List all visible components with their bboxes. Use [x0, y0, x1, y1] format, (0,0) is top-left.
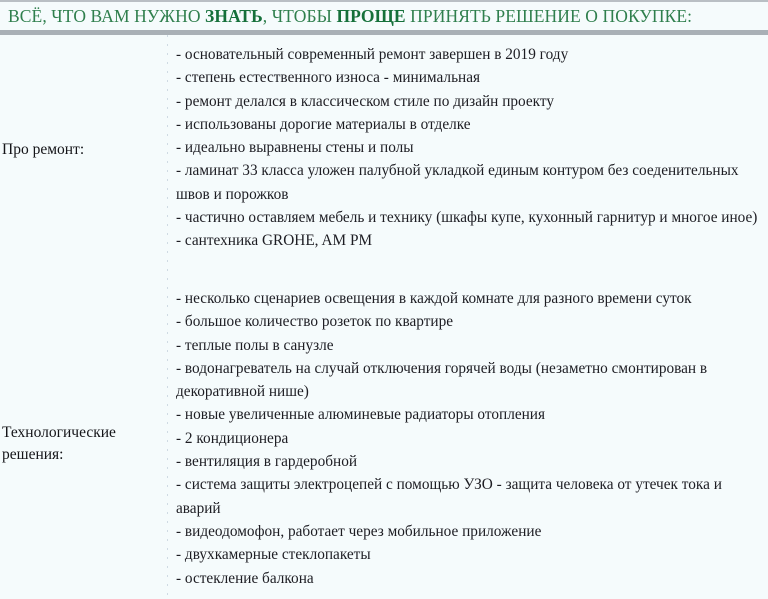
- list-item: - 2 кондиционера: [176, 427, 764, 450]
- list-item: - сантехника GROHE, AM PM: [176, 229, 764, 252]
- page-title-prefix: ВСЁ, ЧТО ВАМ НУЖНО: [8, 6, 205, 26]
- section-technology-items: - несколько сценариев освещения в каждой…: [176, 287, 764, 590]
- list-item: - использованы дорогие материалы в отдел…: [176, 113, 764, 136]
- list-item: - видеодомофон, работает через мобильное…: [176, 520, 764, 543]
- header-band: ВСЁ, ЧТО ВАМ НУЖНО ЗНАТЬ, ЧТОБЫ ПРОЩЕ ПР…: [0, 2, 768, 30]
- list-item: - система защиты электроцепей с помощью …: [176, 473, 764, 520]
- list-item: - ламинат 33 класса уложен палубной укла…: [176, 159, 764, 206]
- list-item: - несколько сценариев освещения в каждой…: [176, 287, 764, 310]
- list-item: - водонагреватель на случай отключения г…: [176, 357, 764, 404]
- column-divider: [167, 35, 168, 599]
- list-item: - двухкамерные стеклопакеты: [176, 543, 764, 566]
- section-technology-label: Технологические решения:: [2, 422, 162, 466]
- list-item: - теплые полы в санузле: [176, 334, 764, 357]
- page-title-middle: , ЧТОБЫ: [263, 6, 337, 26]
- page-title-emphasis-2: ПРОЩЕ: [336, 6, 405, 26]
- page-title-emphasis-1: ЗНАТЬ: [205, 6, 263, 26]
- list-item: - идеально выравнены стены и полы: [176, 136, 764, 159]
- list-item: - степень естественного износа - минимал…: [176, 66, 764, 89]
- list-item: - ремонт делался в классическом стиле по…: [176, 90, 764, 113]
- list-item: - большое количество розеток по квартире: [176, 310, 764, 333]
- list-item: - основательный современный ремонт завер…: [176, 43, 764, 66]
- section-repair-label: Про ремонт:: [2, 139, 162, 161]
- section-repair-items: - основательный современный ремонт завер…: [176, 43, 764, 253]
- page-title-suffix: ПРИНЯТЬ РЕШЕНИЕ О ПОКУПКЕ:: [406, 6, 692, 26]
- list-item: - новые увеличенные алюминевые радиаторы…: [176, 403, 764, 426]
- list-item: - остекление балкона: [176, 567, 764, 590]
- page-title: ВСЁ, ЧТО ВАМ НУЖНО ЗНАТЬ, ЧТОБЫ ПРОЩЕ ПР…: [8, 5, 692, 27]
- list-item: - вентиляция в гардеробной: [176, 450, 764, 473]
- content-sheet: Про ремонт: - основательный современный …: [0, 35, 768, 599]
- list-item: - частично оставляем мебель и технику (ш…: [176, 206, 764, 229]
